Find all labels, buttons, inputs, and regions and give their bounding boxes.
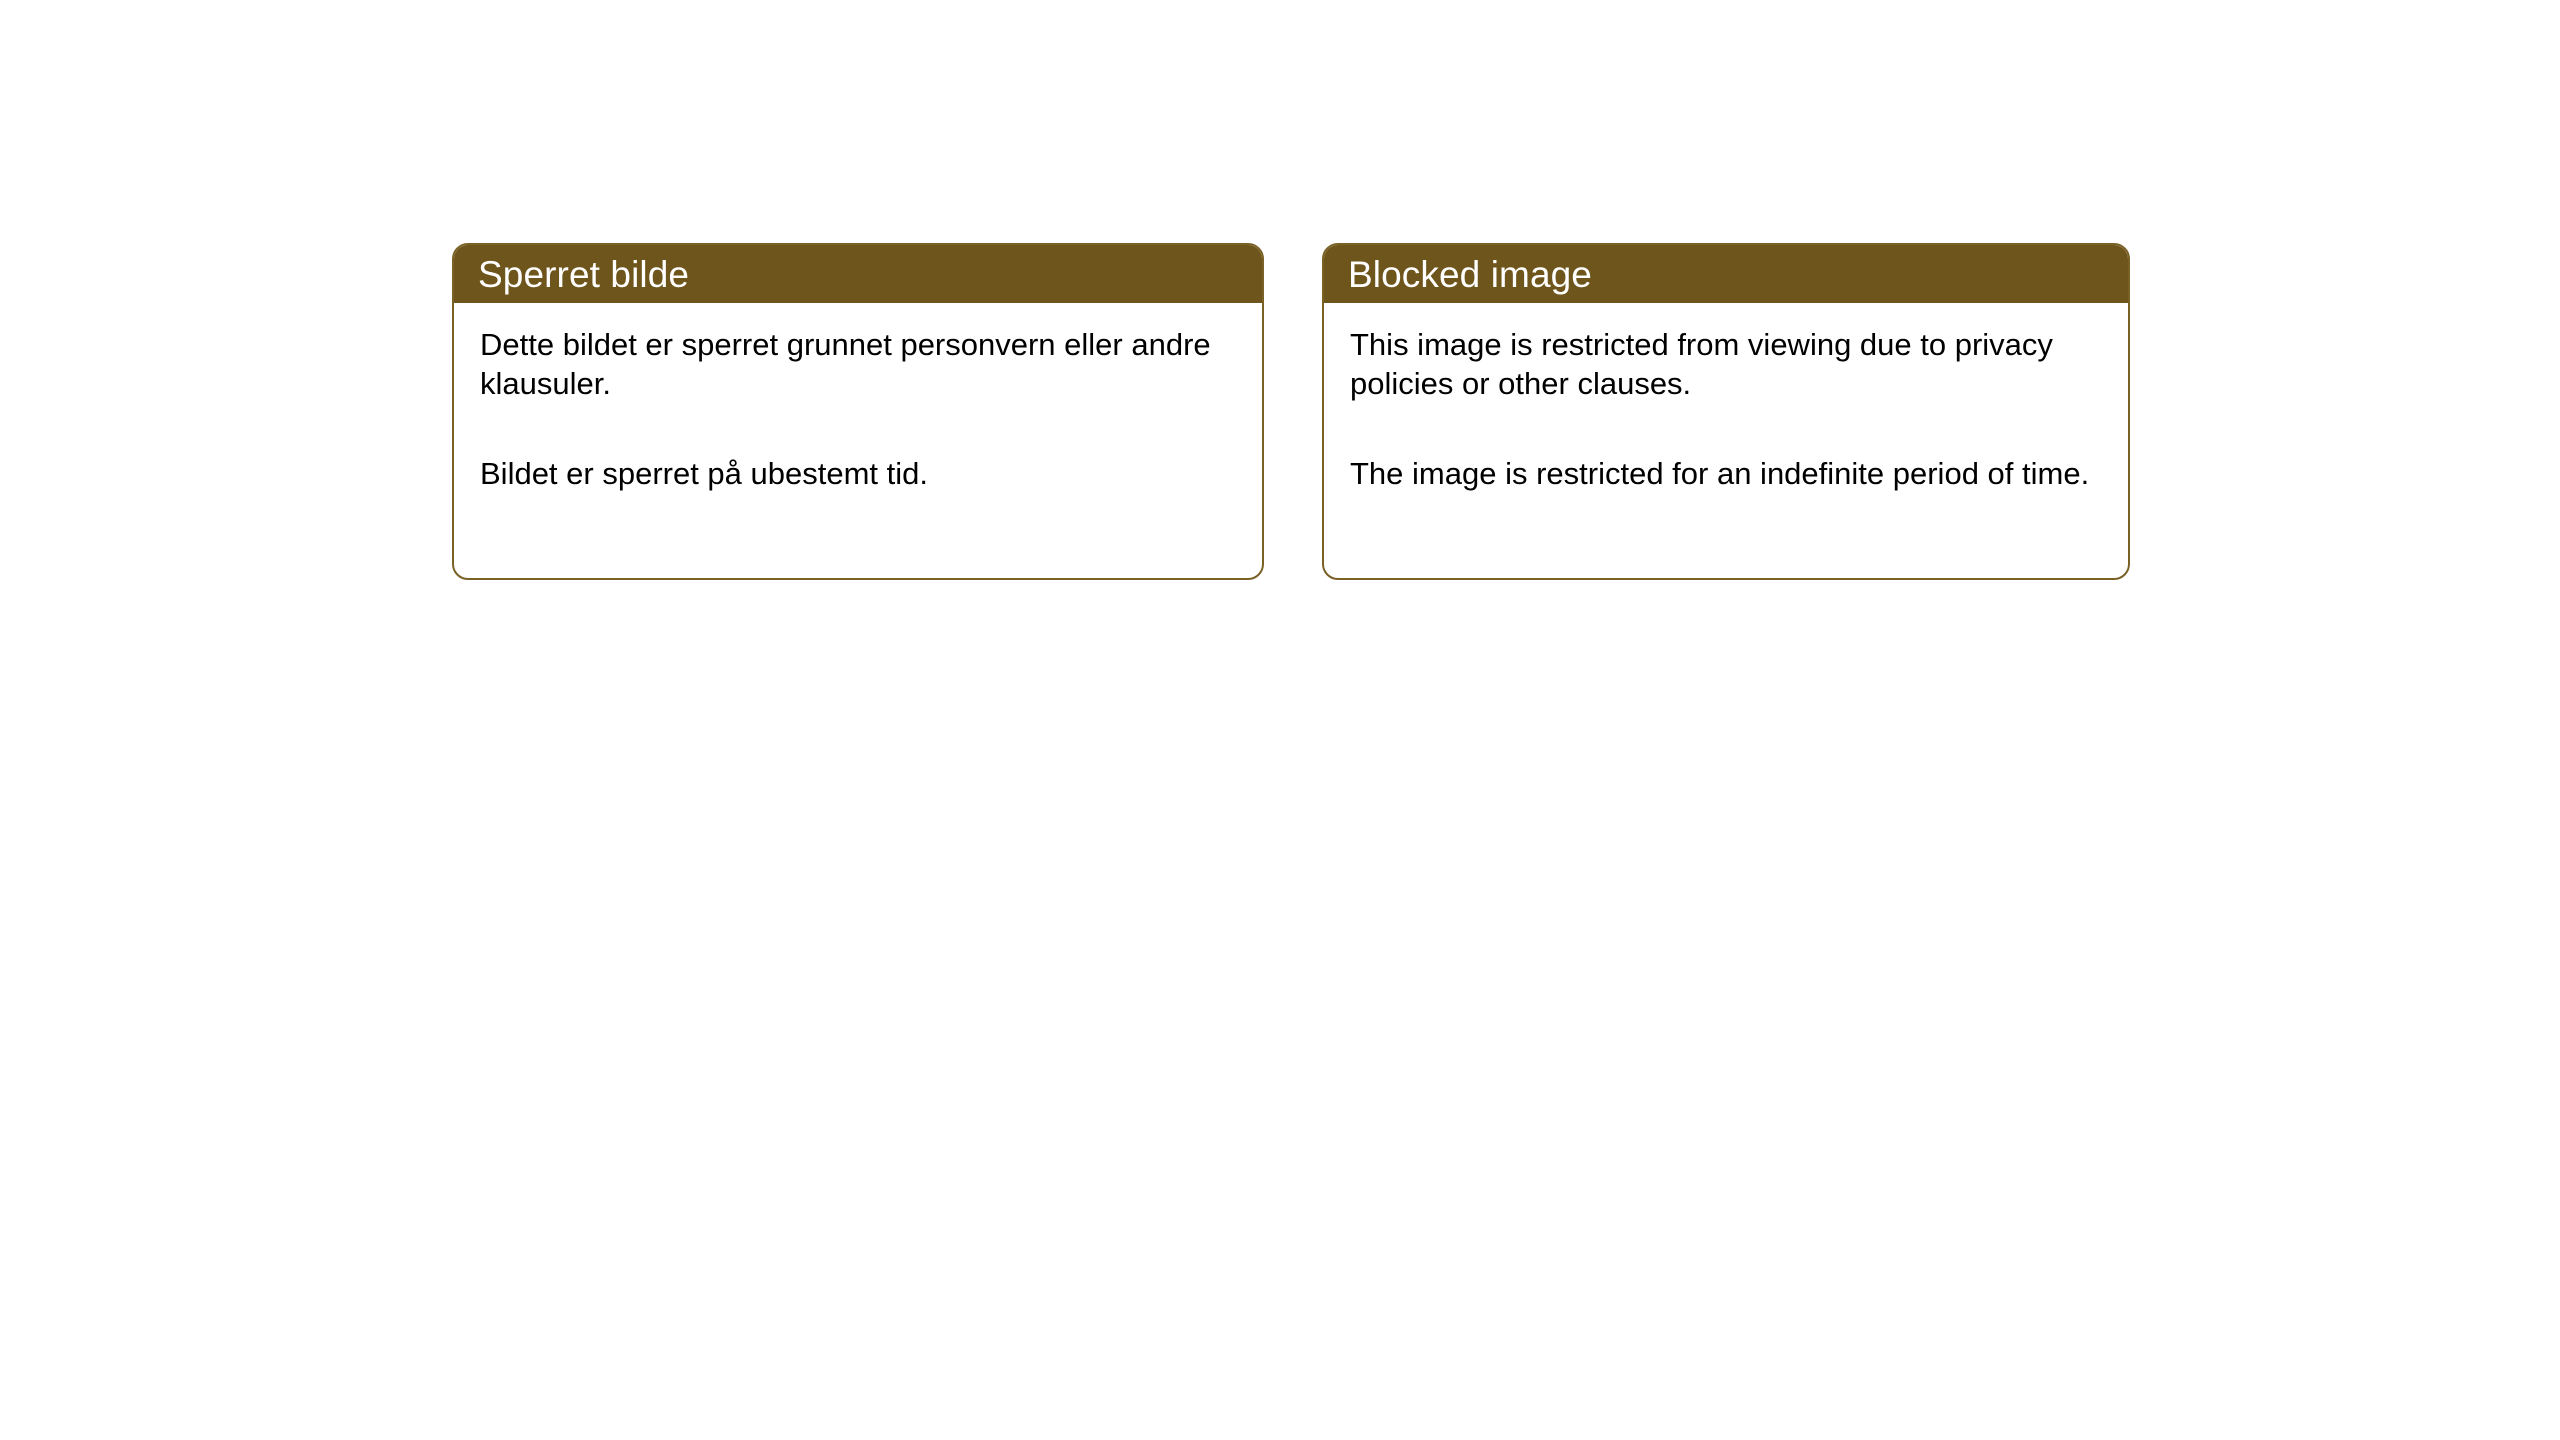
blocked-image-card-en: Blocked image This image is restricted f… [1322,243,2130,580]
card-body-en: This image is restricted from viewing du… [1324,303,2128,493]
card-paragraph-primary-en: This image is restricted from viewing du… [1350,325,2102,404]
card-header-no: Sperret bilde [454,245,1262,303]
card-paragraph-secondary-no: Bildet er sperret på ubestemt tid. [480,454,1236,493]
card-header-en: Blocked image [1324,245,2128,303]
card-body-no: Dette bildet er sperret grunnet personve… [454,303,1262,493]
blocked-image-card-no: Sperret bilde Dette bildet er sperret gr… [452,243,1264,580]
card-title-en: Blocked image [1348,256,1592,293]
card-paragraph-secondary-en: The image is restricted for an indefinit… [1350,454,2102,493]
card-paragraph-primary-no: Dette bildet er sperret grunnet personve… [480,325,1236,404]
page-root: Sperret bilde Dette bildet er sperret gr… [0,0,2560,1440]
card-title-no: Sperret bilde [478,256,689,293]
